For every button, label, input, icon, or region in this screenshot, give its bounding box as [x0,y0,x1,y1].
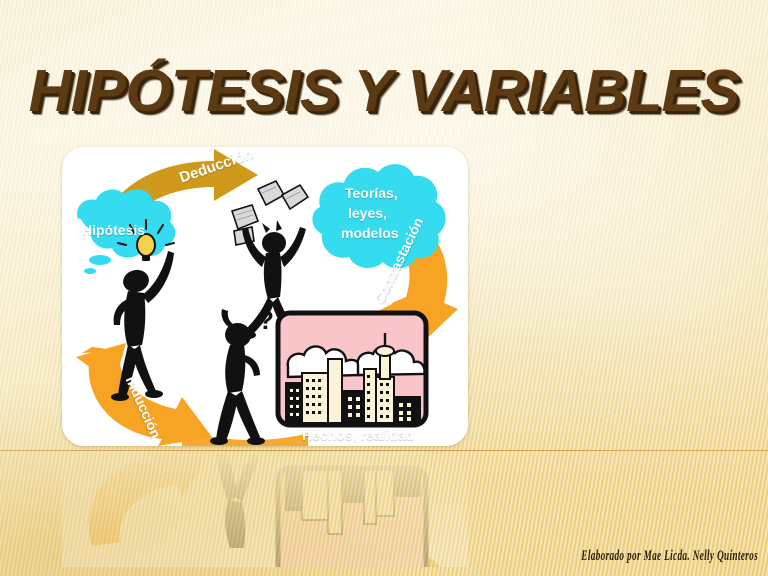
horizontal-divider [0,450,768,451]
diagram-canvas [62,147,468,446]
page-title: HIPÓTESIS Y VARIABLES [0,62,768,121]
presentation-slide: HIPÓTESIS Y VARIABLES [0,0,768,576]
author-credit: Elaborado por Mae Licda. Nelly Quinteros [288,548,758,565]
city-panel-hechos-realidad [278,313,426,425]
scientific-method-cycle-image: Deducción Teorías, leyes, modelos Hipóte… [62,147,468,446]
